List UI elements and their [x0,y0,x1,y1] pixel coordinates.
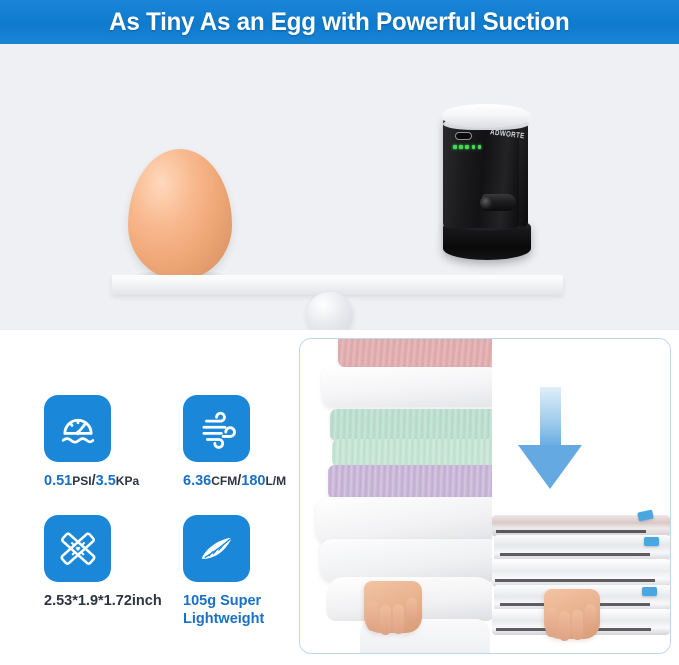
led-indicator [465,145,469,149]
led-indicator [453,145,457,149]
finger [380,605,391,635]
bag-seam [496,530,646,533]
before-after-compression-photo [299,338,671,654]
bedding-layer-mint [332,439,492,467]
spec-item-dimensions: 2.53*1.9*1.72inch [44,515,162,610]
finger [393,604,404,634]
bedding-layer-mint [330,409,492,441]
bedding-layer-duvet [316,497,492,543]
spec-item-pressure: 0.51PSI/3.5KPa [44,395,139,490]
compressed-bags-side [492,339,670,653]
spec-value: 180 [241,473,265,489]
spec-item-airflow: 6.36CFM/180L/M [183,395,286,490]
device-cap [442,104,530,128]
hand-holding-bags [544,589,600,639]
down-arrow-icon [540,387,561,449]
bag-seam [495,579,655,582]
wind-airflow-icon [183,395,250,462]
balance-fulcrum [307,292,353,330]
headline-banner: As Tiny As an Egg with Powerful Suction [0,0,679,44]
spec-label-airflow: 6.36CFM/180L/M [183,472,286,490]
page-title: As Tiny As an Egg with Powerful Suction [109,8,569,37]
vacuum-pump-device: ADWORTE [432,101,542,286]
spec-unit: PSI [72,474,91,488]
bedding-layer-pillow [322,367,492,407]
finger [585,604,596,628]
bag-seam [500,553,650,556]
led-indicator [478,145,482,149]
finger [546,607,557,637]
led-indicator [459,145,463,149]
uncompressed-bedding-side [300,339,492,653]
spec-grid: 0.51PSI/3.5KPa 6.36CFM/180L/M [0,330,300,665]
down-arrow-head [518,445,582,489]
egg [128,149,232,280]
bag-valve [644,537,659,546]
spec-value: 3.5 [96,473,116,489]
spec-unit: CFM [211,474,237,488]
pressure-gauge-icon [44,395,111,462]
spec-value: 6.36 [183,473,211,489]
spec-value: 0.51 [44,473,72,489]
features-section: 0.51PSI/3.5KPa 6.36CFM/180L/M [0,330,679,665]
bedding-layer-lavender [328,465,492,499]
spec-label-pressure: 0.51PSI/3.5KPa [44,472,139,490]
led-indicator-row [453,145,481,149]
bedding-layer-pink [338,339,492,367]
finger [559,611,570,641]
compressed-bag [492,559,670,587]
finger [406,598,417,622]
spec-item-weight: 105g Super Lightweight [183,515,291,628]
spec-label-dimensions: 2.53*1.9*1.72inch [44,592,162,610]
device-nozzle-opening [480,196,493,209]
led-indicator [472,145,476,149]
spec-unit: KPa [116,474,139,488]
feather-lightweight-icon [183,515,250,582]
bag-valve [642,587,657,596]
ruler-dimensions-icon [44,515,111,582]
finger [572,610,583,640]
spec-label-weight: 105g Super Lightweight [183,592,291,628]
finger [367,601,378,631]
spec-unit: L/M [265,474,286,488]
hand-holding-bedding [364,581,422,633]
hero-balance-scene: ADWORTE [0,44,679,330]
usb-c-port-icon [455,132,472,140]
